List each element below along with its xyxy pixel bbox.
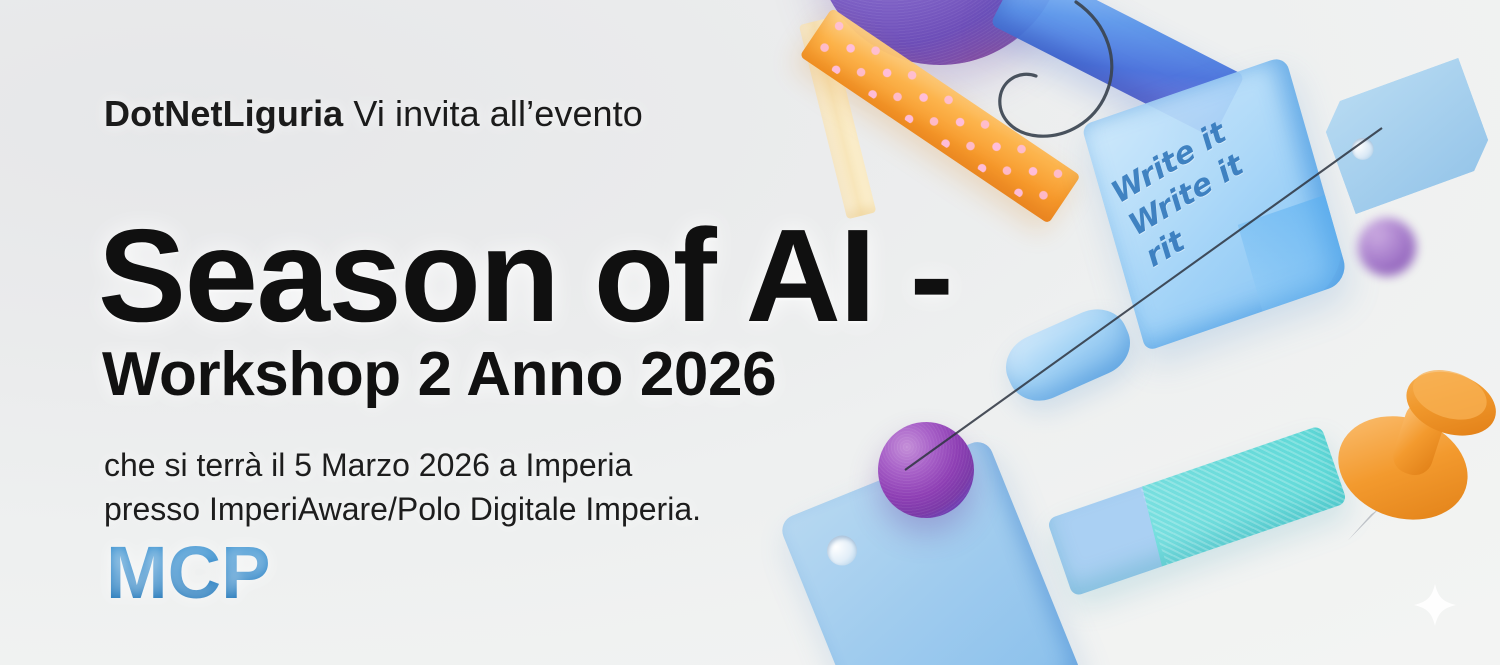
event-banner: Write it Write it rit (0, 0, 1500, 665)
organizer-name: DotNetLiguria (104, 93, 343, 134)
sparkle-icon (1412, 582, 1458, 628)
text-content: DotNetLiguria Vi invita all’evento Seaso… (104, 0, 1024, 665)
invitation-text: Vi invita all’evento (343, 93, 643, 134)
event-title-line-1: Season of AI - (98, 210, 952, 342)
invitation-line: DotNetLiguria Vi invita all’evento (104, 96, 643, 132)
event-title-line-2: Workshop 2 Anno 2026 (102, 344, 776, 406)
pushpin-icon (1291, 316, 1500, 590)
sphere-purple-blur-icon (1358, 218, 1416, 276)
notepad-glass-icon: Write it Write it rit (1081, 56, 1349, 352)
tag-octagon-icon (1317, 58, 1496, 215)
notepad-curl (1238, 194, 1350, 318)
bar-teal-glass-icon (1047, 425, 1348, 597)
event-date-location: che si terrà il 5 Marzo 2026 a Imperia (104, 444, 701, 488)
mcp-logo: MCP (106, 536, 270, 610)
notepad-handwriting: Write it Write it rit (1106, 87, 1314, 276)
bar-blue-glass-icon (990, 0, 1245, 138)
event-details: che si terrà il 5 Marzo 2026 a Imperia p… (104, 444, 701, 531)
tag-octagon-hole (1349, 135, 1377, 163)
event-venue: presso ImperiAware/Polo Digitale Imperia… (104, 488, 701, 532)
